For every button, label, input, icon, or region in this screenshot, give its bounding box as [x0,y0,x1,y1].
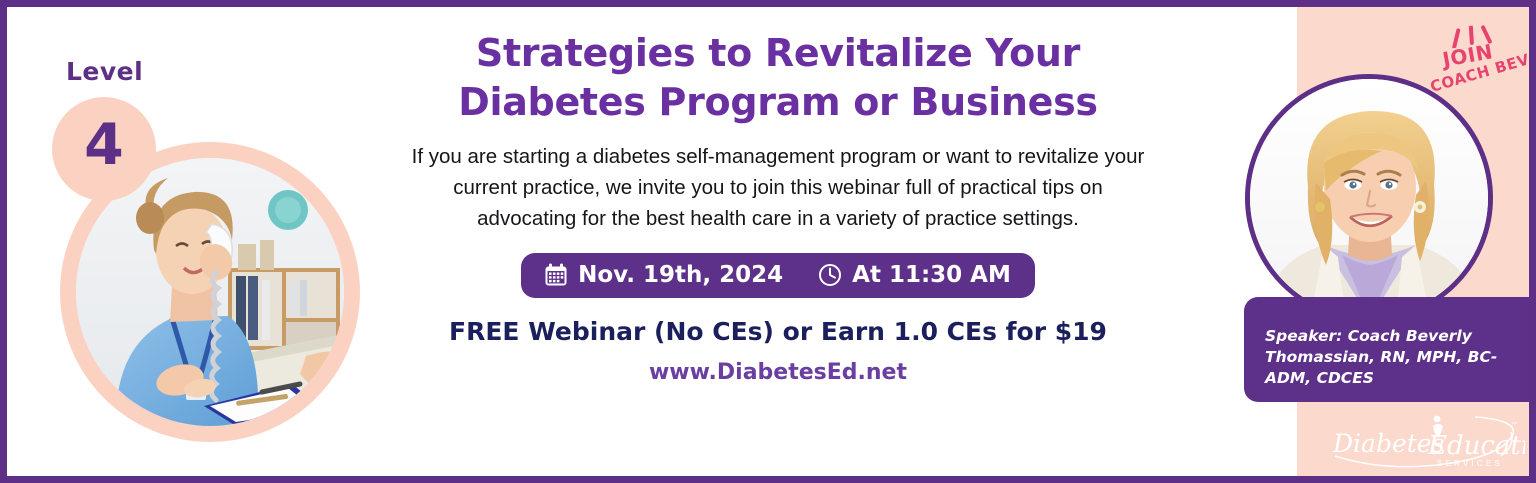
speaker-portrait [1245,74,1493,322]
webinar-date: Nov. 19th, 2024 [578,262,783,288]
main-content: Strategies to Revitalize Your Diabetes P… [383,29,1173,385]
calendar-icon [543,262,569,288]
clock-icon [817,262,843,288]
level-number: 4 [52,115,156,175]
webinar-time: At 11:30 AM [852,262,1011,288]
speaker-name-box: Speaker: Coach Beverly Thomassian, RN, M… [1244,297,1536,402]
ce-credit-line: FREE Webinar (No CEs) or Earn 1.0 CEs fo… [383,317,1173,346]
webinar-title: Strategies to Revitalize Your Diabetes P… [383,29,1173,127]
level-label: Level [66,57,143,86]
diabetes-education-services-logo: Diabetes Education SERVICES ™ [1325,412,1525,474]
webinar-description: If you are starting a diabetes self-mana… [383,141,1173,234]
svg-text:SERVICES: SERVICES [1437,459,1503,468]
time-group: At 11:30 AM [817,262,1011,288]
website-url[interactable]: www.DiabetesEd.net [383,360,1173,385]
webinar-banner: JOIN COACH BEV Level 4 [0,0,1536,483]
svg-text:Education: Education [1427,431,1525,461]
speaker-name: Speaker: Coach Beverly Thomassian, RN, M… [1265,326,1531,389]
date-group: Nov. 19th, 2024 [543,262,783,288]
svg-text:™: ™ [1511,421,1517,428]
datetime-badge: Nov. 19th, 2024 At 11:30 AM [521,253,1035,298]
level-badge-circle: 4 [52,97,156,201]
join-coach-bev-mark: JOIN COACH BEV [1421,19,1536,102]
